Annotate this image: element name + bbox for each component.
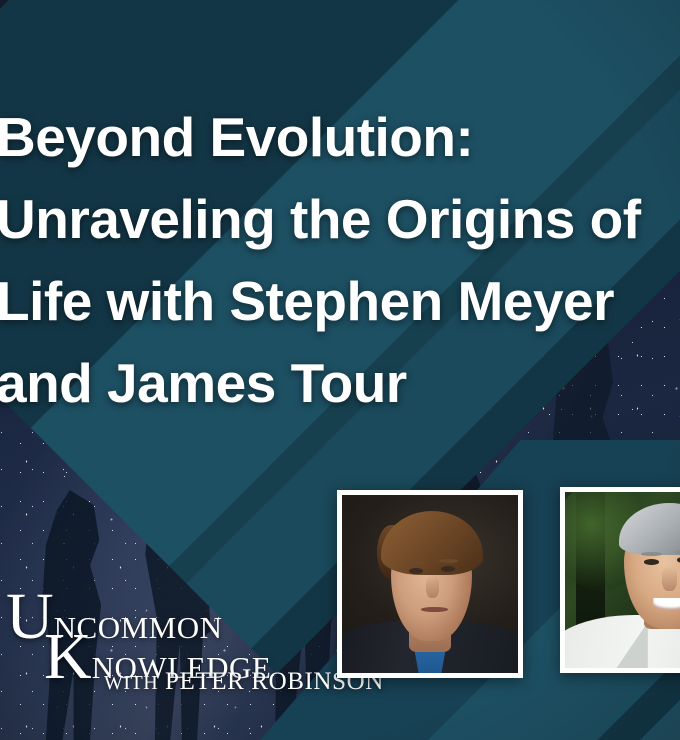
portrait-1-mouth (421, 607, 447, 612)
portrait-2-nose (662, 566, 676, 591)
portrait-1-eyebrow-right (439, 559, 458, 563)
uncommon-knowledge-logo: UNCOMMON KNOWLEDGE WITH PETER ROBINSON (6, 576, 336, 686)
portrait-stephen-meyer (337, 490, 523, 678)
logo-dropcap-k: K (44, 620, 92, 693)
portrait-2-smile (653, 598, 680, 610)
portrait-2-image (565, 492, 680, 668)
portrait-1-image (342, 495, 518, 673)
video-thumbnail: Beyond Evolution: Unraveling the Origins… (0, 0, 680, 740)
portrait-james-tour (560, 487, 680, 673)
title-line-3: Life with Stephen Meyer (0, 260, 680, 342)
page-title: Beyond Evolution: Unraveling the Origins… (0, 96, 680, 424)
title-line-1: Beyond Evolution: (0, 96, 680, 178)
portrait-2-eyebrow-left (641, 552, 663, 556)
logo-tagline-with: WITH (104, 672, 158, 694)
portrait-2-eye-left (644, 559, 658, 565)
title-line-4: and James Tour (0, 342, 680, 424)
portrait-1-eye-left (409, 568, 423, 574)
portrait-1-nose (426, 575, 438, 598)
title-line-2: Unraveling the Origins of (0, 178, 680, 260)
